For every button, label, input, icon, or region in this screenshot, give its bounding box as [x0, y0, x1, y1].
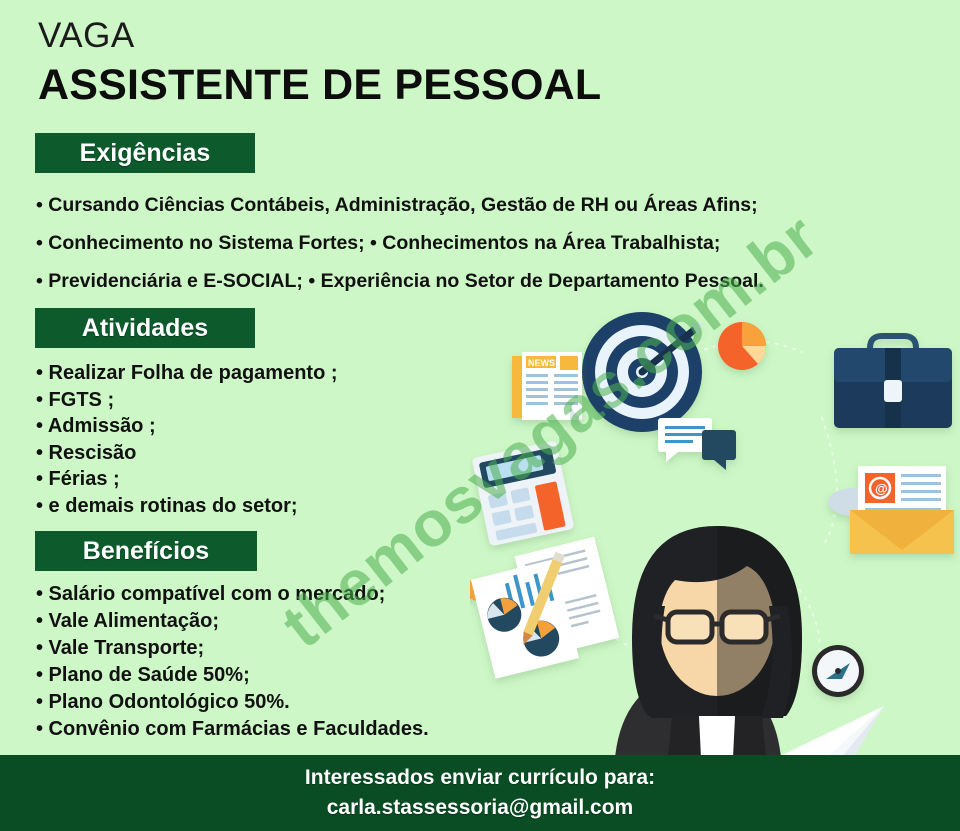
briefcase-icon [834, 336, 952, 428]
poster-header: VAGA ASSISTENTE DE PESSOAL [38, 18, 601, 109]
job-posting-poster: VAGA ASSISTENTE DE PESSOAL Exigências • … [0, 0, 960, 831]
list-item: • Salário compatível com o mercado; [36, 581, 429, 608]
svg-text:NEWS: NEWS [528, 358, 555, 368]
poster-footer: Interessados enviar currículo para: carl… [0, 755, 960, 831]
illustration-businesswoman: NEWS [470, 300, 960, 755]
section-banner-atividades: Atividades [35, 308, 255, 348]
requirements-list: • Cursando Ciências Contábeis, Administr… [36, 186, 764, 300]
footer-email[interactable]: carla.stassessoria@gmail.com [327, 793, 633, 823]
benefits-list: • Salário compatível com o mercado; • Va… [36, 581, 429, 743]
kicker-label: VAGA [38, 18, 601, 55]
compass-icon [812, 645, 864, 697]
paper-plane-icon [776, 706, 884, 755]
list-item: • Rescisão [36, 440, 338, 467]
svg-text:@: @ [875, 481, 888, 496]
list-item: • Plano de Saúde 50%; [36, 662, 429, 689]
news-document-icon: NEWS [512, 352, 582, 420]
list-item: • Cursando Ciências Contábeis, Administr… [36, 186, 764, 224]
list-item: • Convênio com Farmácias e Faculdades. [36, 716, 429, 743]
list-item: • Previdenciária e E-SOCIAL; • Experiênc… [36, 262, 764, 300]
activities-list: • Realizar Folha de pagamento ; • FGTS ;… [36, 360, 338, 520]
list-item: • Plano Odontológico 50%. [36, 689, 429, 716]
businesswoman-avatar [614, 526, 802, 755]
list-item: • Férias ; [36, 466, 338, 493]
target-icon [582, 312, 702, 432]
list-item: • Admissão ; [36, 413, 338, 440]
email-envelope-icon: @ [828, 466, 954, 554]
list-item: • e demais rotinas do setor; [36, 493, 338, 520]
chat-bubbles-icon [658, 418, 736, 470]
section-banner-exigencias: Exigências [35, 133, 255, 173]
calculator-icon [472, 440, 575, 546]
list-item: • Conhecimento no Sistema Fortes; • Conh… [36, 224, 764, 262]
list-item: • Vale Transporte; [36, 635, 429, 662]
list-item: • Vale Alimentação; [36, 608, 429, 635]
footer-instruction: Interessados enviar currículo para: [305, 763, 655, 793]
section-banner-beneficios: Benefícios [35, 531, 257, 571]
list-item: • FGTS ; [36, 387, 338, 414]
pie-chart-icon [718, 322, 766, 370]
report-charts-icon [470, 537, 622, 682]
page-title: ASSISTENTE DE PESSOAL [38, 61, 601, 109]
list-item: • Realizar Folha de pagamento ; [36, 360, 338, 387]
